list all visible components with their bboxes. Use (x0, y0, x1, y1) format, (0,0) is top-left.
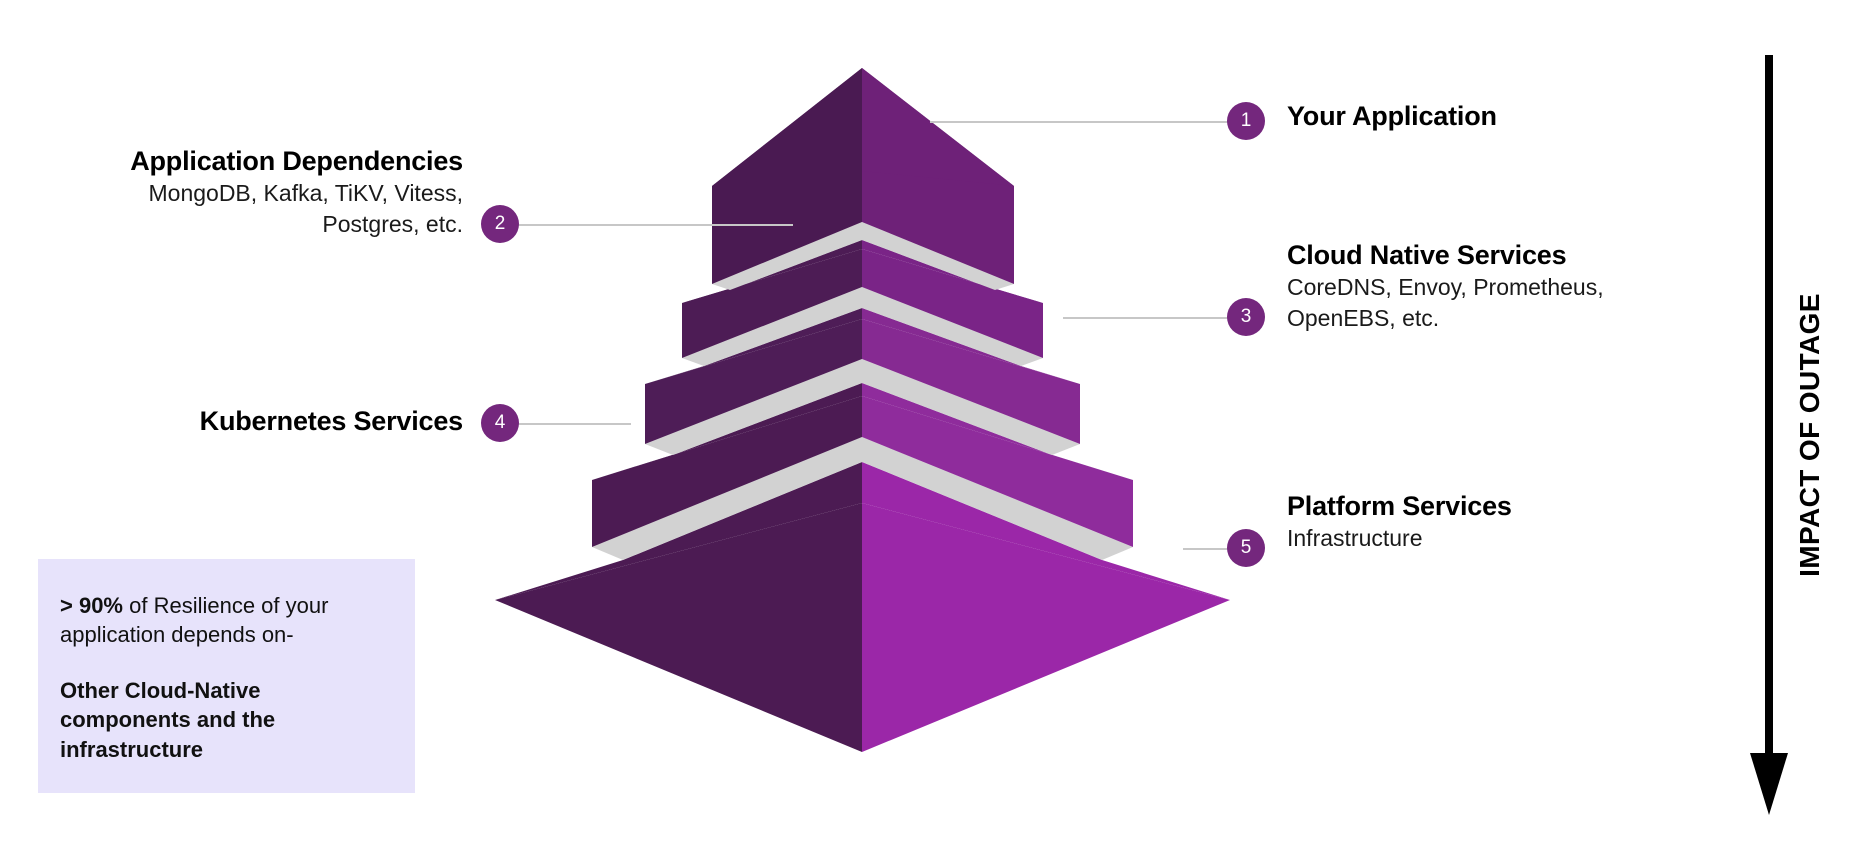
layer-callout-5: Platform Services Infrastructure (1287, 490, 1667, 554)
resilience-note-box: > 90% of Resilience of your application … (38, 559, 415, 793)
layer-subtitle-3: CoreDNS, Envoy, Prometheus, OpenEBS, etc… (1287, 272, 1667, 333)
layer-subtitle-2: MongoDB, Kafka, TiKV, Vitess, Postgres, … (40, 178, 463, 239)
note-strong-3: infrastructure (60, 735, 385, 765)
note-emphasis: > 90% (60, 593, 123, 618)
layer-title-5: Platform Services (1287, 490, 1667, 523)
layer-badge-5[interactable]: 5 (1227, 529, 1265, 567)
layer-subtitle-5: Infrastructure (1287, 523, 1667, 554)
layer-callout-3: Cloud Native Services CoreDNS, Envoy, Pr… (1287, 239, 1667, 333)
layer-badge-1[interactable]: 1 (1227, 102, 1265, 140)
layer-title-1: Your Application (1287, 100, 1707, 133)
layer-callout-4: Kubernetes Services (40, 405, 463, 438)
down-arrow-icon (1748, 55, 1792, 815)
axis-label: IMPACT OF OUTAGE (1788, 55, 1832, 815)
connector-line-3 (1063, 317, 1233, 319)
layer-title-2: Application Dependencies (40, 145, 463, 178)
note-line-1: > 90% of Resilience of your (60, 591, 385, 620)
connector-line-1 (930, 121, 1232, 123)
layer-callout-2: Application Dependencies MongoDB, Kafka,… (40, 145, 463, 239)
impact-of-outage-axis: IMPACT OF OUTAGE (1748, 55, 1858, 815)
layer-callout-1: Your Application (1287, 100, 1707, 133)
note-line-1-rest: of Resilience of your (123, 593, 328, 618)
diagram-canvas: 1 2 3 4 5 Your Application Application D… (0, 0, 1858, 846)
layer-badge-4[interactable]: 4 (481, 404, 519, 442)
note-strong-1: Other Cloud-Native (60, 676, 385, 706)
connector-line-4 (518, 423, 631, 425)
layer-badge-2[interactable]: 2 (481, 205, 519, 243)
layer-title-4: Kubernetes Services (40, 405, 463, 438)
connector-line-2 (518, 224, 793, 226)
note-line-2: application depends on- (60, 620, 385, 649)
note-strong-2: components and the (60, 705, 385, 735)
layer-title-3: Cloud Native Services (1287, 239, 1667, 272)
layer-badge-3[interactable]: 3 (1227, 298, 1265, 336)
note-spacer (60, 650, 385, 676)
